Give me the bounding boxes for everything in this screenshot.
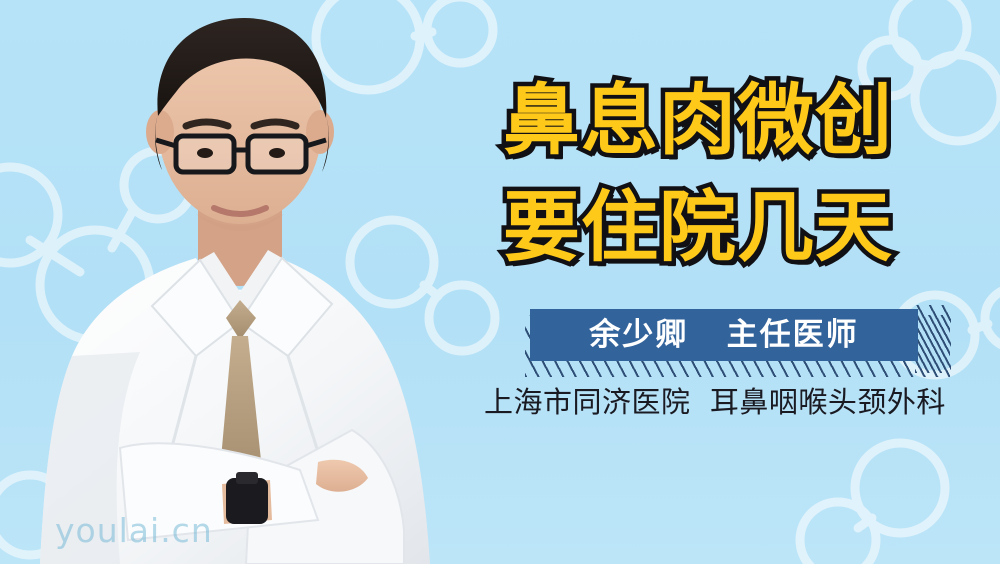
doctor-name-badge: 余少卿 主任医师 [530, 309, 950, 371]
badge-plate: 余少卿 主任医师 [530, 309, 918, 361]
headline-line-2: 要住院几天 [503, 190, 973, 267]
affiliation-text: 上海市同济医院 耳鼻咽喉头颈外科 [484, 386, 994, 419]
hatch-decoration-right [915, 305, 951, 373]
headline-block: 鼻息肉微创 要住院几天 余少卿 主任医师 上海市同济医院 耳鼻咽喉头颈外科 [470, 0, 1000, 564]
badge-label: 余少卿 主任医师 [589, 320, 858, 351]
video-thumbnail-card: 鼻息肉微创 要住院几天 余少卿 主任医师 上海市同济医院 耳鼻咽喉头颈外科 yo… [0, 0, 1000, 564]
doctor-portrait [0, 0, 470, 564]
headline-line-1: 鼻息肉微创 [503, 83, 973, 160]
